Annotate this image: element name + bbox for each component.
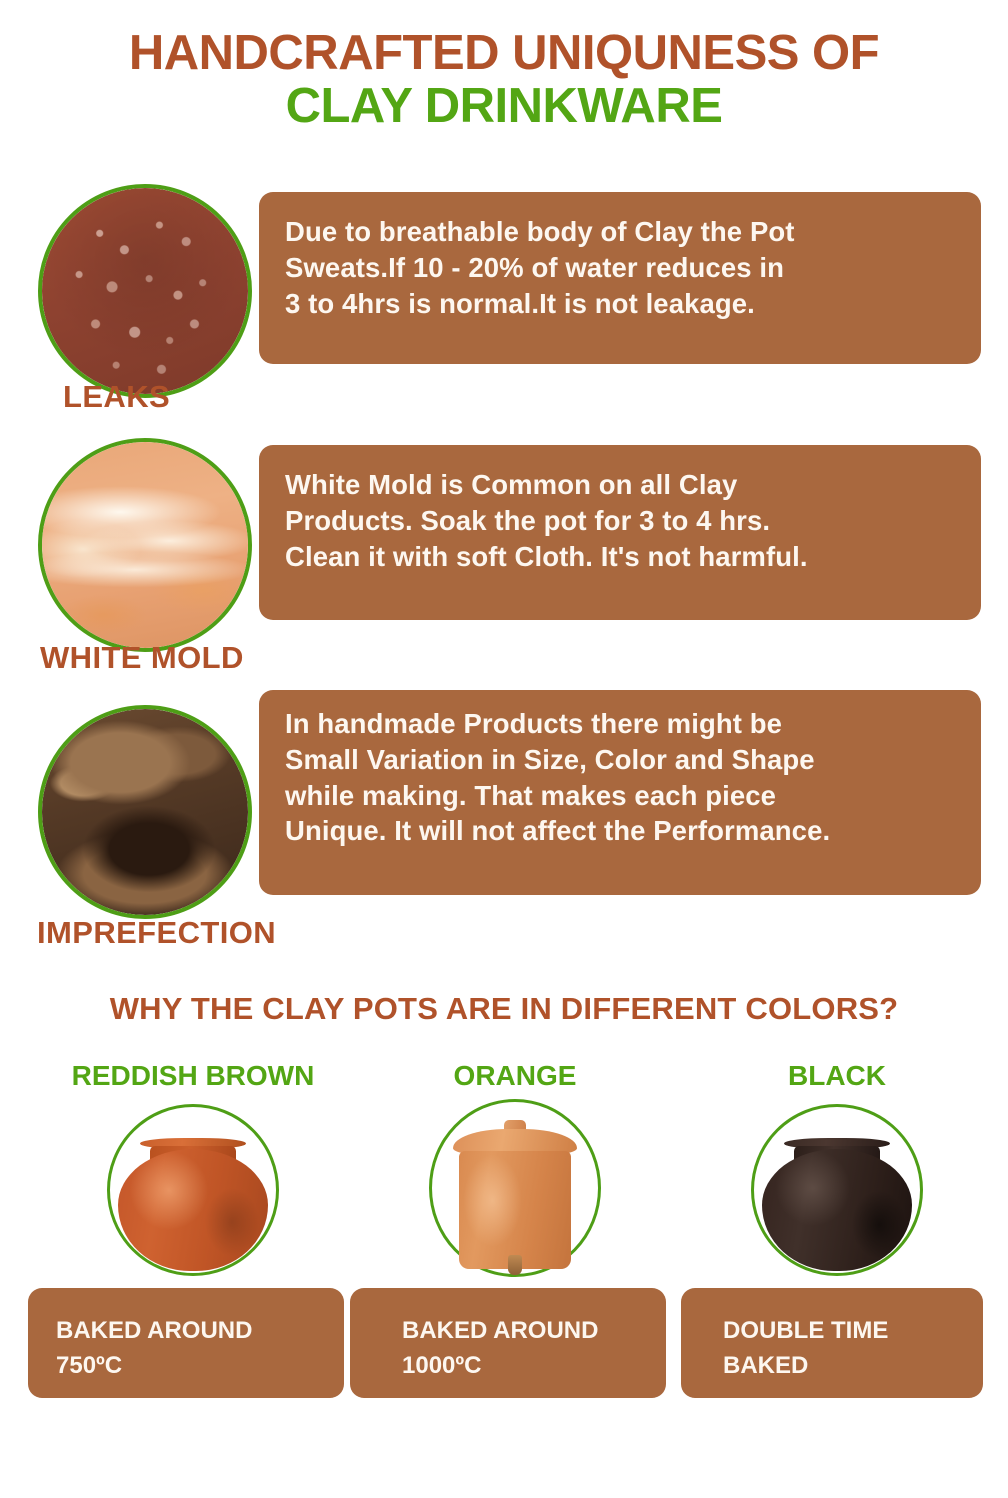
imprefection-label: IMPREFECTION [37,915,276,951]
leaks-text-line-1: Due to breathable body of Clay the Pot [285,214,955,250]
caption-line-2: BAKED [723,1349,959,1384]
black-label: BLACK [672,1060,1002,1092]
imprefection-text-line-1: In handmade Products there might be [285,706,955,742]
caption-line-1: BAKED AROUND [402,1314,642,1349]
reddish-brown-clay-pot-icon [118,1149,268,1271]
white-mold-text-line-1: White Mold is Common on all Clay [285,467,955,503]
black-pot-photo [672,1100,1002,1275]
leaks-text-line-2: Sweats.If 10 - 20% of water reduces in [285,250,955,286]
white-mold-text-line-2: Products. Soak the pot for 3 to 4 hrs. [285,503,955,539]
clay-water-droplets-icon [42,188,248,394]
white-mold-label: WHITE MOLD [40,640,244,676]
black-clay-pot-icon [762,1149,912,1271]
infographic-page: HANDCRAFTED UNIQUNESS OF CLAY DRINKWARE … [0,0,1008,1498]
white-mold-photo [38,438,252,652]
colors-section-heading: WHY THE CLAY POTS ARE IN DIFFERENT COLOR… [0,991,1008,1027]
color-column-black: BLACK [672,1060,1002,1275]
potter-hands-wheel-icon [42,709,248,915]
caption-line-1: BAKED AROUND [56,1314,320,1349]
leaks-label: LEAKS [63,379,170,415]
reddish-brown-label: REDDISH BROWN [28,1060,358,1092]
leaks-text-line-3: 3 to 4hrs is normal.It is not leakage. [285,286,955,322]
reddish-brown-caption-card: BAKED AROUND 750ºC [28,1288,344,1398]
white-mold-text-line-3: Clean it with soft Cloth. It's not harmf… [285,539,955,575]
reddish-brown-pot-photo [28,1100,358,1275]
leaks-photo [38,184,252,398]
title-line-primary: HANDCRAFTED UNIQUNESS OF [0,28,1008,79]
caption-line-1: DOUBLE TIME [723,1314,959,1349]
color-column-reddish-brown: REDDISH BROWN [28,1060,358,1275]
color-column-orange: ORANGE [350,1060,680,1275]
imprefection-text-line-4: Unique. It will not affect the Performan… [285,813,955,849]
pot-tap-icon [508,1255,522,1275]
orange-pot-photo [350,1100,680,1275]
caption-line-2: 750ºC [56,1349,320,1384]
black-caption-card: DOUBLE TIME BAKED [681,1288,983,1398]
caption-line-2: 1000ºC [402,1349,642,1384]
orange-clay-water-dispenser-icon [459,1151,571,1269]
white-mold-text-card: White Mold is Common on all Clay Product… [259,445,981,620]
orange-caption-card: BAKED AROUND 1000ºC [350,1288,666,1398]
imprefection-text-line-2: Small Variation in Size, Color and Shape [285,742,955,778]
white-mold-on-clay-icon [42,442,248,648]
leaks-text-card: Due to breathable body of Clay the Pot S… [259,192,981,364]
imprefection-text-card: In handmade Products there might be Smal… [259,690,981,895]
page-title: HANDCRAFTED UNIQUNESS OF CLAY DRINKWARE [0,28,1008,134]
imprefection-text-line-3: while making. That makes each piece [285,778,955,814]
imprefection-photo [38,705,252,919]
orange-label: ORANGE [350,1060,680,1092]
title-line-secondary: CLAY DRINKWARE [0,79,1008,134]
